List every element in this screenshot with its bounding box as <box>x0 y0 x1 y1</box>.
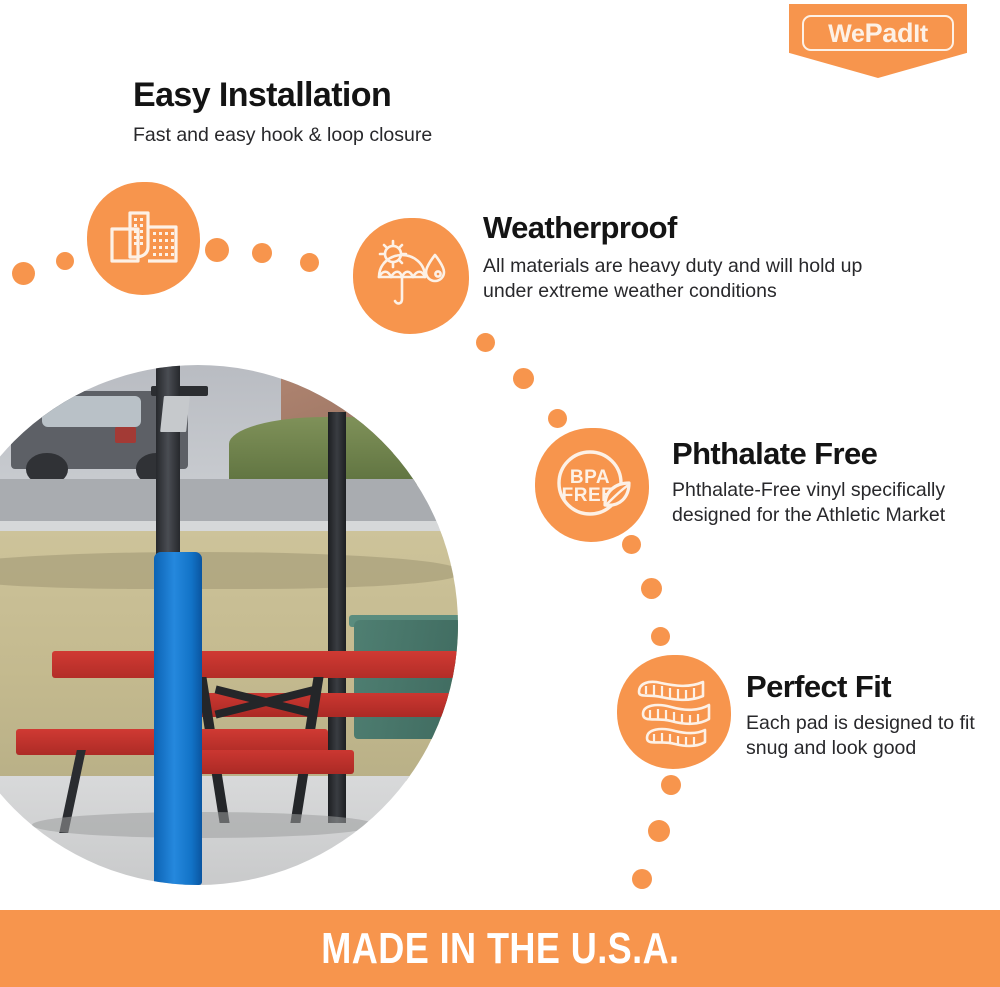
made-in-usa-banner: MADE IN THE U.S.A. <box>0 910 1000 987</box>
photo-picnic-table-top <box>52 651 458 678</box>
path-dot <box>622 535 641 554</box>
logo-outline-box: WePadIt <box>802 15 954 51</box>
feature-description-perfect-fit: Each pad is designed to fit snug and loo… <box>746 711 991 762</box>
logo-text-pad: Pad <box>865 18 914 48</box>
photo-vehicle-taillight <box>115 427 136 443</box>
hook-and-loop-icon <box>87 182 200 295</box>
photo-curb <box>0 521 458 531</box>
photo-road <box>0 479 458 521</box>
feature-description-easy-installation: Fast and easy hook & loop closure <box>133 123 553 149</box>
path-dot <box>476 333 495 352</box>
sun-umbrella-raindrop-icon <box>353 218 469 334</box>
feature-block-easy-installation: Easy Installation Fast and easy hook & l… <box>133 78 553 148</box>
logo-text-we: We <box>828 20 864 48</box>
photo-blue-pole-pad <box>154 552 202 885</box>
path-dot <box>651 627 670 646</box>
path-dot <box>641 578 662 599</box>
brand-logo[interactable]: WePadIt <box>789 4 967 78</box>
photo-ground-shadow <box>32 812 375 838</box>
feature-title-perfect-fit: Perfect Fit <box>746 671 991 704</box>
path-dot <box>205 238 229 262</box>
photo-grass-patch <box>0 552 458 588</box>
feature-title-phthalate-free: Phthalate Free <box>672 438 982 471</box>
made-in-usa-text: MADE IN THE U.S.A. <box>321 924 679 974</box>
photo-picnic-bench <box>188 750 354 774</box>
feature-block-phthalate-free: Phthalate Free Phthalate-Free vinyl spec… <box>672 438 982 529</box>
path-dot <box>548 409 567 428</box>
path-dot <box>12 262 35 285</box>
path-dot <box>513 368 534 389</box>
feature-block-weatherproof: Weatherproof All materials are heavy dut… <box>483 212 903 305</box>
logo-wordmark: WePadIt <box>828 20 928 47</box>
feature-description-weatherproof: All materials are heavy duty and will ho… <box>483 254 903 305</box>
tape-measure-icon <box>617 655 731 769</box>
photo-vehicle-window <box>42 396 141 427</box>
photo-post-sign <box>160 396 190 432</box>
photo-trash-barrel <box>354 620 458 740</box>
path-dot <box>252 243 272 263</box>
path-dot <box>648 820 670 842</box>
logo-text-it: It <box>913 20 928 48</box>
path-dot <box>661 775 681 795</box>
infographic-canvas: WePadIt Easy Installation Fast and easy … <box>0 0 1000 987</box>
product-photo <box>0 365 458 885</box>
path-dot <box>300 253 319 272</box>
feature-description-phthalate-free: Phthalate-Free vinyl specifically design… <box>672 478 982 529</box>
path-dot <box>56 252 74 270</box>
feature-block-perfect-fit: Perfect Fit Each pad is designed to fit … <box>746 671 991 762</box>
bpa-free-leaf-icon: BPA FREE <box>535 428 649 542</box>
feature-title-easy-installation: Easy Installation <box>133 78 553 114</box>
feature-title-weatherproof: Weatherproof <box>483 212 903 245</box>
path-dot <box>632 869 652 889</box>
